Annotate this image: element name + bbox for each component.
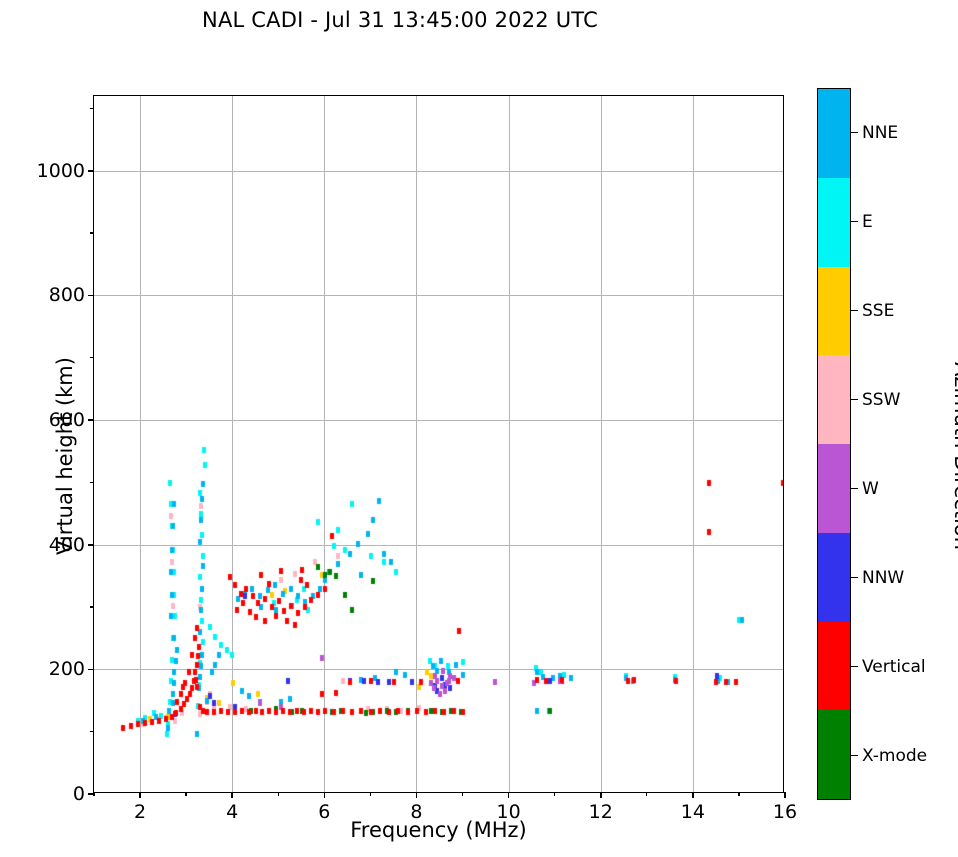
colorbar-segment-vertical (818, 622, 850, 711)
x-axis-tick (139, 792, 141, 798)
ionogram-plot-area: 24681012141602004006008001000 (93, 95, 784, 793)
y-axis-tick (88, 793, 94, 795)
colorbar-tick (851, 310, 858, 312)
colorbar-tick (851, 666, 858, 668)
colorbar-tick (851, 577, 858, 579)
x-axis-tick (600, 792, 602, 798)
y-axis-minor-tick (90, 731, 94, 732)
x-axis-minor-tick (738, 792, 739, 796)
y-axis-tick (88, 544, 94, 546)
y-axis-minor-tick (90, 606, 94, 607)
colorbar-segment-nne (818, 89, 850, 178)
y-axis-tick-label: 0 (73, 783, 85, 805)
y-axis-tick (88, 669, 94, 671)
colorbar-tick (851, 221, 858, 223)
colorbar-tick-label-vertical: Vertical (862, 657, 926, 677)
x-axis-tick (416, 792, 418, 798)
colorbar (817, 88, 851, 800)
colorbar-tick-label-e: E (862, 212, 873, 232)
colorbar-tick (851, 399, 858, 401)
colorbar-segment-nnw (818, 533, 850, 622)
y-axis-tick-label: 200 (49, 658, 85, 680)
x-axis-tick (508, 792, 510, 798)
colorbar-tick (851, 488, 858, 490)
colorbar-tick-label-sse: SSE (862, 301, 894, 321)
x-axis-minor-tick (370, 792, 371, 796)
y-axis-minor-tick (90, 357, 94, 358)
x-axis-tick (324, 792, 326, 798)
colorbar-label: Azimuth Direction (950, 306, 958, 606)
colorbar-segment-sse (818, 267, 850, 356)
x-axis-minor-tick (278, 792, 279, 796)
x-axis-minor-tick (462, 792, 463, 796)
y-axis-label: Virtual height (km) (53, 306, 77, 606)
y-axis-minor-tick (90, 482, 94, 483)
colorbar-tick-label-w: W (862, 479, 879, 499)
colorbar-tick-label-nne: NNE (862, 123, 898, 143)
x-axis-minor-tick (646, 792, 647, 796)
x-axis-tick (784, 792, 786, 798)
colorbar-tick (851, 132, 858, 134)
scatter-layer (94, 96, 783, 792)
colorbar-tick-label-x-mode: X-mode (862, 746, 927, 766)
y-axis-tick-label: 1000 (37, 160, 85, 182)
x-axis-tick (692, 792, 694, 798)
colorbar-segment-x-mode (818, 710, 850, 799)
colorbar-tick (851, 755, 858, 757)
y-axis-tick-label: 800 (49, 284, 85, 306)
colorbar-segment-w (818, 444, 850, 533)
x-axis-minor-tick (554, 792, 555, 796)
x-axis-tick (231, 792, 233, 798)
page-title: NAL CADI - Jul 31 13:45:00 2022 UTC (0, 8, 800, 32)
colorbar-segment-ssw (818, 355, 850, 444)
colorbar-tick-label-nnw: NNW (862, 568, 904, 588)
colorbar-tick-label-ssw: SSW (862, 390, 900, 410)
x-axis-label: Frequency (MHz) (93, 818, 784, 842)
y-axis-minor-tick (90, 232, 94, 233)
y-axis-tick (88, 419, 94, 421)
x-axis-minor-tick (185, 792, 186, 796)
data-points-canvas (94, 96, 783, 792)
y-axis-tick (88, 295, 94, 297)
y-axis-tick (88, 170, 94, 172)
colorbar-segment-e (818, 178, 850, 267)
y-axis-minor-tick (90, 108, 94, 109)
